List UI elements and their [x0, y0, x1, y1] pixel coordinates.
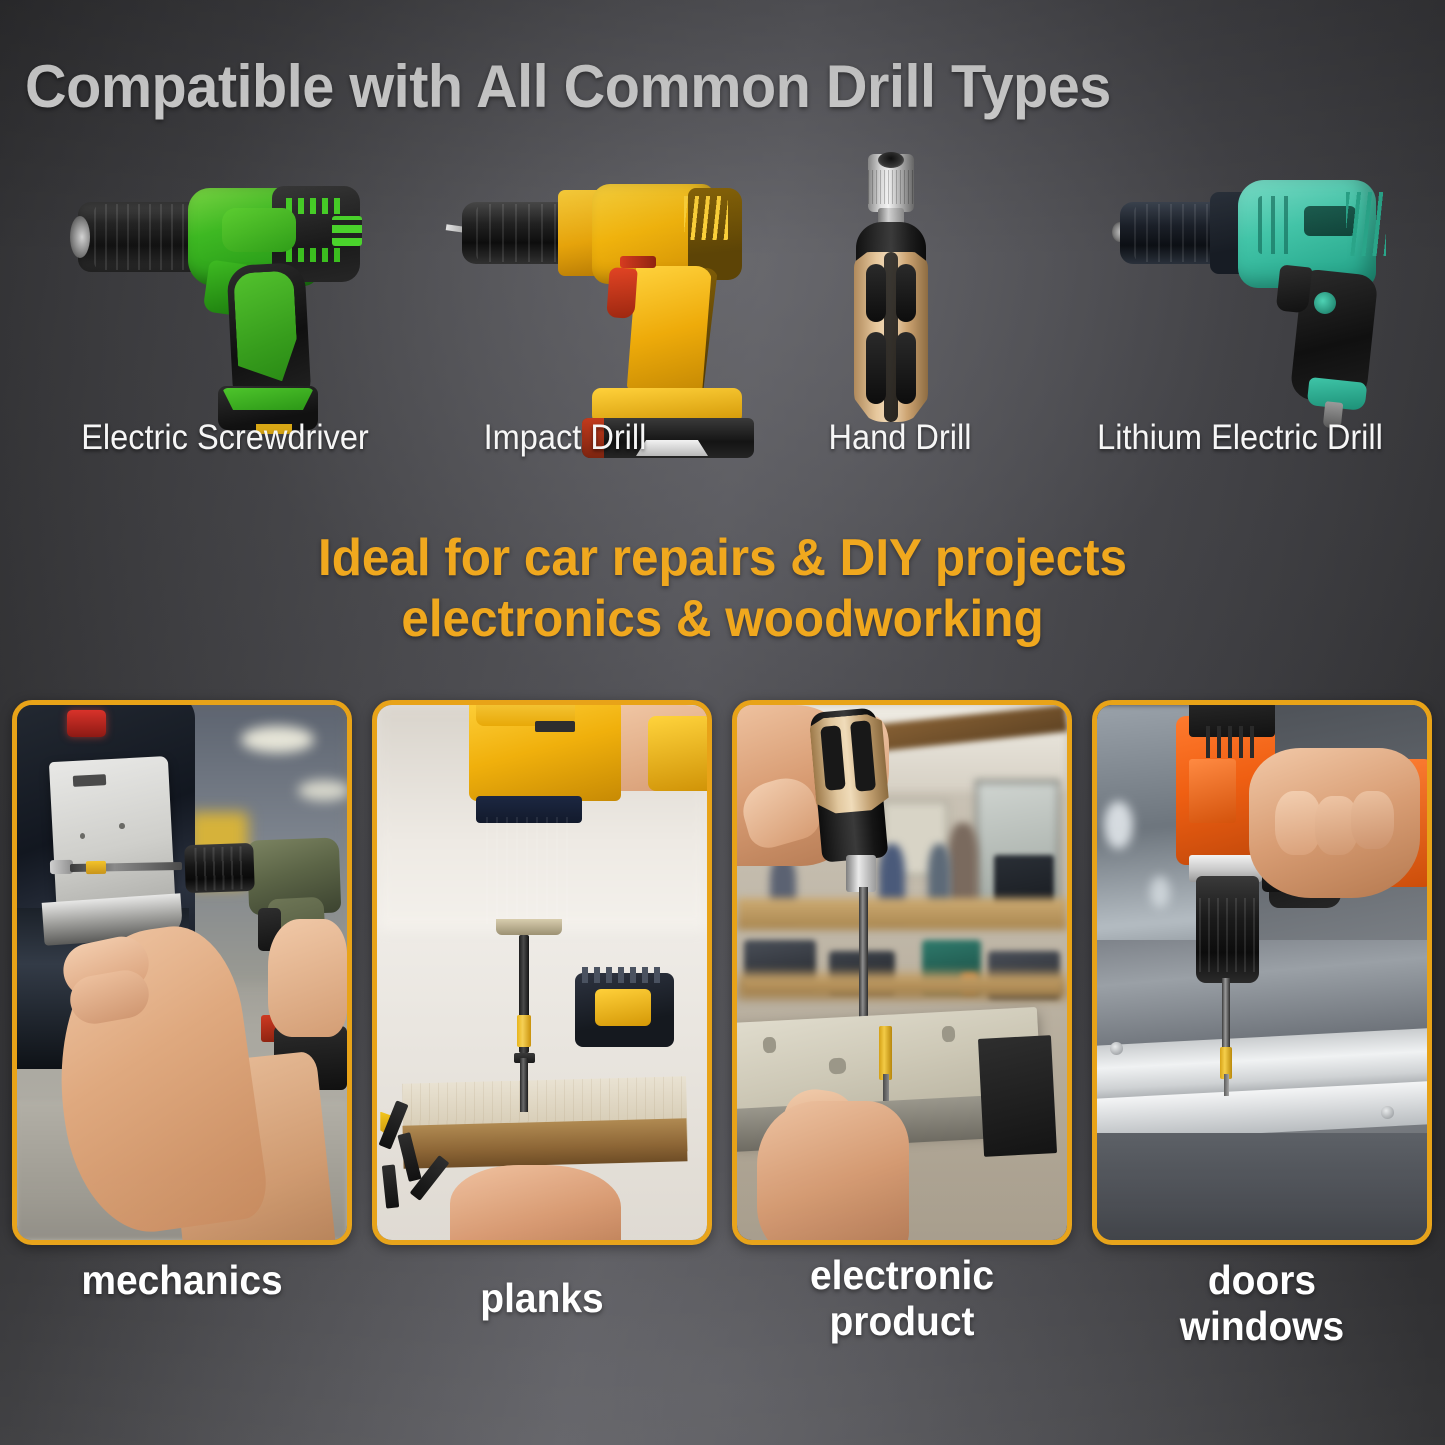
hand-drill-icon	[840, 140, 1040, 410]
drill-labels-row: Electric Screwdriver Impact Drill Hand D…	[0, 418, 1445, 466]
usage-headline: Ideal for car repairs & DIY projects ele…	[36, 528, 1409, 651]
caption-doors-windows: doors windows	[1101, 1258, 1424, 1350]
car-panel-repair-photo	[17, 705, 347, 1240]
drill-item-impact-drill	[440, 140, 770, 410]
use-case-photo-doors-windows	[1092, 700, 1432, 1245]
drill-label-impact-drill: Impact Drill	[412, 418, 719, 458]
drill-label-hand-drill: Hand Drill	[765, 418, 1035, 458]
use-case-captions: mechanics planks electronic product door…	[0, 1258, 1445, 1388]
page-title: Compatible with All Common Drill Types	[25, 52, 1111, 121]
teal-corded-drill-icon	[1110, 140, 1410, 410]
use-case-panels	[0, 700, 1445, 1245]
caption-electronic-product-line-1: electronic	[741, 1253, 1064, 1299]
drill-item-electric-screwdriver	[60, 140, 390, 410]
green-cordless-drill-icon	[60, 140, 390, 410]
wood-plank-screwing-photo	[377, 705, 707, 1240]
electronics-repair-photo	[737, 705, 1067, 1240]
caption-electronic-product-line-2: product	[741, 1299, 1064, 1345]
use-case-photo-mechanics	[12, 700, 352, 1245]
infographic-root: Compatible with All Common Drill Types	[0, 0, 1445, 1445]
use-case-photo-electronic-product	[732, 700, 1072, 1245]
drill-types-row	[0, 140, 1445, 410]
use-case-photo-planks	[372, 700, 712, 1245]
caption-electronic-product: electronic product	[741, 1253, 1064, 1345]
caption-mechanics: mechanics	[21, 1258, 344, 1304]
drill-item-hand-drill	[840, 140, 1040, 410]
caption-doors-windows-line-2: windows	[1101, 1304, 1424, 1350]
drill-item-lithium-electric-drill	[1110, 140, 1410, 410]
caption-planks-line-1: planks	[381, 1276, 704, 1322]
yellow-impact-drill-icon	[440, 140, 770, 410]
headline-line-2: electronics & woodworking	[36, 589, 1409, 650]
drill-label-lithium-electric-drill: Lithium Electric Drill	[1068, 418, 1412, 458]
caption-mechanics-line-1: mechanics	[21, 1258, 344, 1304]
drill-label-electric-screwdriver: Electric Screwdriver	[53, 418, 397, 458]
caption-planks: planks	[381, 1276, 704, 1322]
headline-line-1: Ideal for car repairs & DIY projects	[318, 529, 1127, 587]
caption-doors-windows-line-1: doors	[1101, 1258, 1424, 1304]
door-frame-screwing-photo	[1097, 705, 1427, 1240]
